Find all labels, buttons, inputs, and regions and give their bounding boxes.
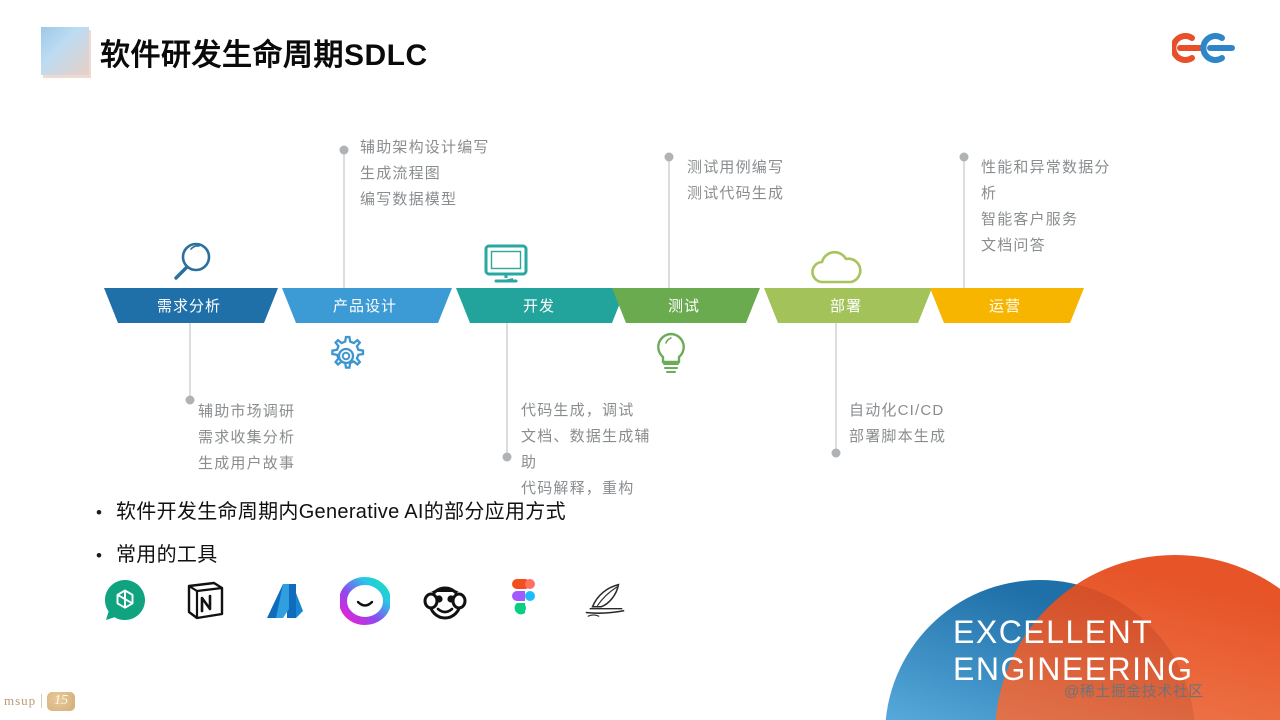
list-item: • 软件开发生命周期内Generative AI的部分应用方式 (96, 495, 856, 524)
stage-label-2: 开发 (523, 295, 555, 316)
stage-label-1: 产品设计 (333, 295, 397, 316)
msup-label: msup (4, 693, 36, 709)
cloud-icon (808, 248, 866, 293)
midjourney-logo-icon[interactable] (580, 576, 630, 626)
stage-label-3: 测试 (668, 295, 700, 316)
gradient-square-icon (41, 27, 89, 75)
annotation-above-testing: 测试用例编写 测试代码生成 (687, 155, 887, 207)
gear-icon (322, 332, 370, 385)
annotation-below-development: 代码生成，调试 文档、数据生成辅 助 代码解释，重构 (521, 398, 711, 502)
stage-label-0: 需求分析 (157, 295, 221, 316)
huggingface-logo-icon[interactable] (420, 576, 470, 626)
ee-slogan: EXCELLENT ENGINEERING (953, 614, 1194, 688)
msup-badge: 15 (47, 692, 75, 711)
stage-label-5: 运营 (989, 295, 1021, 316)
copilot-logo-icon[interactable] (340, 576, 390, 626)
ee-slogan-line1: EXCELLENT (953, 614, 1194, 651)
stage-label-4: 部署 (830, 295, 862, 316)
bullet-list: • 软件开发生命周期内Generative AI的部分应用方式 • 常用的工具 (96, 495, 856, 581)
stage-chevron-0[interactable]: 需求分析 (104, 288, 278, 323)
chatgpt-logo-icon[interactable] (100, 576, 150, 626)
notion-logo-icon[interactable] (180, 576, 230, 626)
lightbulb-icon (650, 330, 692, 383)
sdlc-stage-bar: 需求分析 产品设计 开发 测试 部署 运营 (104, 288, 1084, 323)
annotation-below-requirements: 辅助市场调研 需求收集分析 生成用户故事 (198, 399, 398, 477)
bullet-text: 软件开发生命周期内Generative AI的部分应用方式 (116, 495, 566, 524)
stage-chevron-1[interactable]: 产品设计 (282, 288, 452, 323)
page-title: 软件研发生命周期SDLC (100, 30, 428, 74)
bullet-dot-icon: • (96, 504, 116, 521)
watermark: @稀土掘金技术社区 (1064, 680, 1204, 701)
msup-logo: msup 15 (4, 688, 75, 714)
stage-chevron-3[interactable]: 测试 (612, 288, 760, 323)
stage-chevron-4[interactable]: 部署 (764, 288, 932, 323)
monitor-icon (483, 243, 529, 290)
annotation-above-operations: 性能和异常数据分 析 智能客户服务 文档问答 (981, 155, 1181, 259)
ee-logo-icon (1172, 26, 1242, 68)
list-item: • 常用的工具 (96, 538, 856, 567)
stage-chevron-2[interactable]: 开发 (456, 288, 626, 323)
figma-logo-icon[interactable] (500, 576, 550, 626)
slide-header: 软件研发生命周期SDLC (0, 0, 1280, 96)
bullet-dot-icon: • (96, 547, 116, 564)
stage-chevron-5[interactable]: 运营 (930, 288, 1084, 323)
bullet-text: 常用的工具 (116, 538, 218, 567)
annotation-below-deployment: 自动化CI/CD 部署脚本生成 (849, 398, 1049, 450)
azure-logo-icon[interactable] (260, 576, 310, 626)
tool-logo-row (100, 576, 630, 626)
divider (41, 694, 42, 708)
annotation-above-product-design: 辅助架构设计编写 生成流程图 编写数据模型 (360, 135, 570, 213)
magnifier-icon (165, 238, 217, 293)
